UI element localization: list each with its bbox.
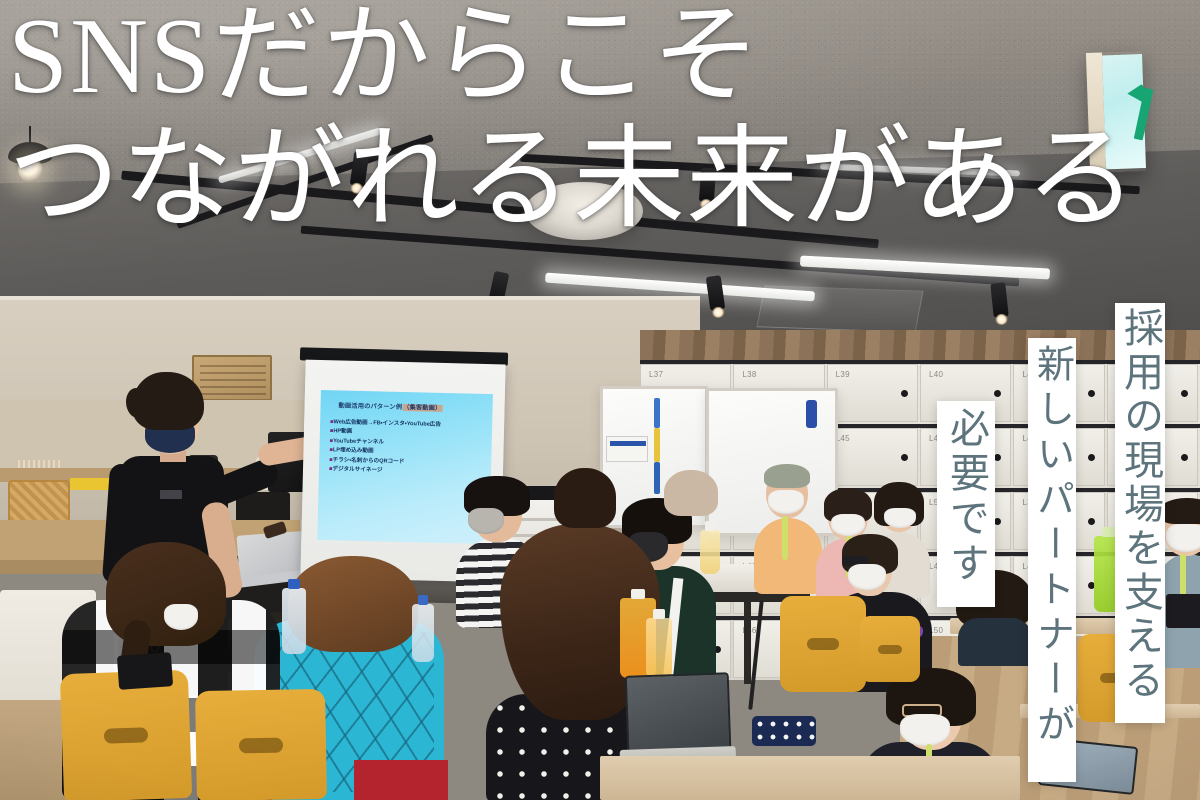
attendee-hair [554, 468, 616, 528]
slide-title-highlight: （集客動画） [402, 404, 442, 412]
pouch-polkadot [752, 716, 816, 746]
magnet-blue [654, 398, 660, 428]
wristwatch [263, 521, 288, 539]
lanyard [782, 516, 788, 560]
locker-label: L40 [929, 370, 943, 379]
attendee-torso [958, 618, 1032, 666]
locker-lock-icon [1088, 390, 1095, 397]
locker-lock-icon [901, 454, 908, 461]
water-bottle [282, 588, 306, 654]
chair [195, 689, 327, 800]
locker-lock-icon [1181, 454, 1188, 461]
magnet-blue [654, 462, 660, 494]
caption-box-saiyou: 採用の現場を支える [1115, 303, 1165, 723]
bottle-cap [631, 589, 645, 599]
chair [860, 616, 920, 682]
exit-sign-face [1102, 54, 1146, 169]
face-mask [884, 508, 916, 528]
tablet-device [625, 672, 732, 754]
badge-holder [1166, 594, 1200, 628]
spot-light [699, 168, 716, 203]
locker-lock-icon [1181, 390, 1188, 397]
shirt-logo [160, 490, 182, 499]
pendant-lamp [8, 140, 52, 186]
caption-text-partner: 新しいパートナーが [1025, 338, 1080, 749]
locker-cell: L39 [827, 364, 918, 422]
locker-lock-icon [1088, 454, 1095, 461]
lanyard [1180, 554, 1186, 596]
slide-title: 動画活用のパターン例（集客動画） [338, 400, 482, 413]
attendee-person [554, 468, 616, 528]
bottle-cap [653, 609, 665, 619]
drink-bottle [646, 618, 672, 678]
bottle-cap [288, 579, 300, 589]
magnet-yellow [654, 428, 660, 462]
drink-bottle [700, 530, 720, 574]
device-dark [117, 652, 173, 690]
face-mask [900, 714, 950, 746]
locker-lock-icon [994, 454, 1001, 461]
seminar-photo: ECO 動画活用のパターン例（集客動画） [0, 0, 1200, 800]
attendee-person [754, 466, 824, 586]
slide-title-main: 動画活用のパターン例 [338, 402, 402, 411]
caption-text-hitsuyou: 必要です [937, 401, 995, 587]
bottle-cap [418, 595, 428, 605]
poster-canvas: ECO 動画活用のパターン例（集客動画） [0, 0, 1200, 800]
presenter-hair [132, 372, 204, 430]
table-front [600, 756, 1020, 800]
attendee-hair [288, 556, 418, 652]
chair-handle [807, 638, 839, 650]
face-mask [848, 564, 886, 590]
emergency-exit-sign-icon [1086, 51, 1146, 173]
locker-lock-icon [901, 390, 908, 397]
chair [780, 596, 866, 692]
attendee-hair [764, 464, 810, 488]
face-mask [1166, 524, 1200, 552]
magnet-blue [806, 400, 817, 428]
face-mask [164, 604, 198, 630]
slide-bullet-list: ■Web広告動画→FB・インスタ・YouTube広告■HP動画■YouTubeチ… [329, 418, 500, 479]
attendee-torso [754, 518, 822, 594]
exit-arrow-left-icon [1127, 82, 1155, 145]
locker-label: L37 [649, 370, 663, 379]
locker-label: L39 [836, 370, 850, 379]
attendee-person [664, 470, 718, 516]
attendee-hair [664, 470, 718, 516]
water-bottle [412, 604, 434, 662]
bottle-cap [705, 521, 715, 531]
lamp-bulb [18, 156, 42, 182]
chair-handle [104, 728, 148, 745]
face-mask [768, 490, 804, 514]
ceiling-fixture [525, 182, 643, 240]
locker-lock-icon [994, 518, 1001, 525]
chair-handle [878, 645, 902, 654]
locker-label: L38 [742, 370, 756, 379]
table-leg [744, 600, 751, 684]
chair-handle [239, 738, 283, 754]
caption-text-saiyou: 採用の現場を支える [1111, 303, 1169, 703]
attendee-skirt [354, 760, 448, 800]
locker-lock-icon [994, 390, 1001, 397]
caption-box-hitsuyou: 必要です [937, 401, 995, 607]
locker-lock-icon [1088, 518, 1095, 525]
locker-cell: L45 [827, 428, 918, 486]
wall-notice [606, 436, 648, 462]
caption-box-partner: 新しいパートナーが [1028, 338, 1076, 782]
